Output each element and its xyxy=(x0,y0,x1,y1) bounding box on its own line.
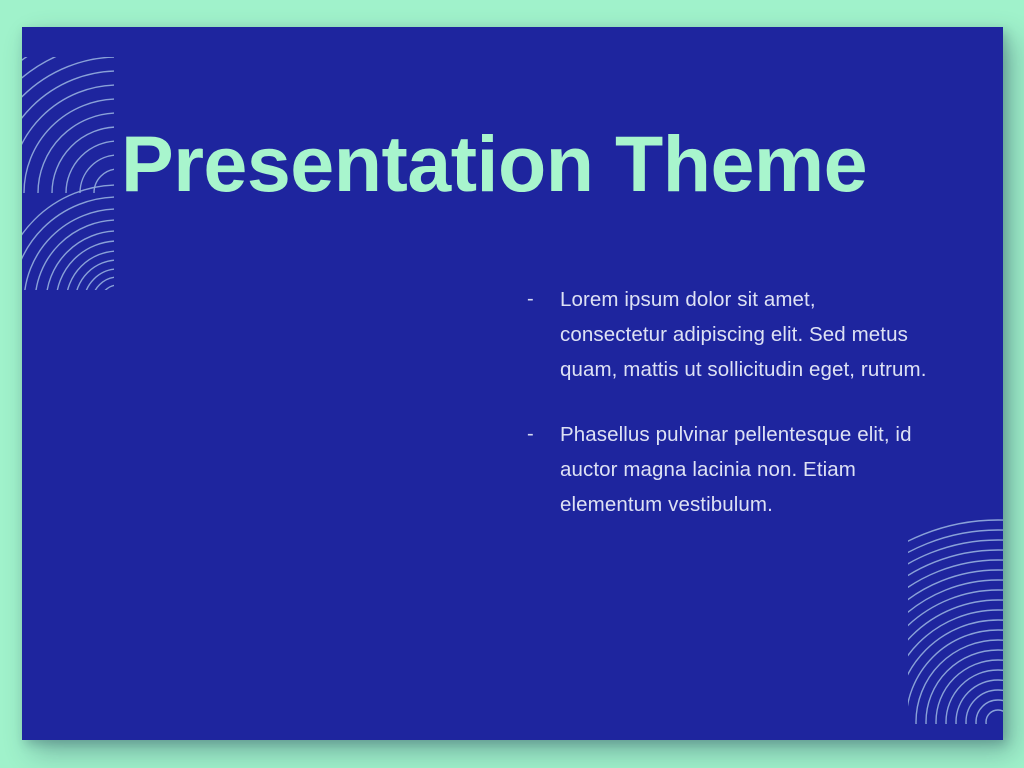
bullet-item: - Phasellus pulvinar pellentesque elit, … xyxy=(527,417,927,522)
slide-canvas: Presentation Theme - Lorem ipsum dolor s… xyxy=(0,0,1024,768)
fingerprint-arcs-bottom-right-icon xyxy=(908,500,1003,724)
bullet-item: - Lorem ipsum dolor sit amet, consectetu… xyxy=(527,282,927,387)
fingerprint-arcs-top-left-icon xyxy=(22,57,114,290)
bullet-text: Lorem ipsum dolor sit amet, consectetur … xyxy=(560,282,927,387)
bullet-text: Phasellus pulvinar pellentesque elit, id… xyxy=(560,417,927,522)
slide-card: Presentation Theme - Lorem ipsum dolor s… xyxy=(22,27,1003,740)
slide-title: Presentation Theme xyxy=(121,123,941,206)
slide-body-list: - Lorem ipsum dolor sit amet, consectetu… xyxy=(527,282,927,522)
bullet-marker-dash-icon: - xyxy=(527,282,560,317)
bullet-marker-dash-icon: - xyxy=(527,417,560,452)
